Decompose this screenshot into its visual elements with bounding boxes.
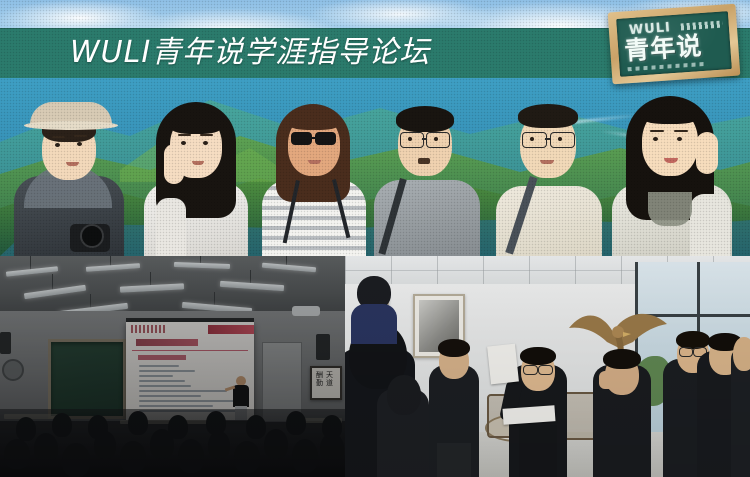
person4-hair xyxy=(396,106,454,132)
person5-glasses-bridge xyxy=(545,138,550,140)
poster-title: WULI青年说学涯指导论坛 xyxy=(70,31,430,75)
badge-chalkboard: WULI 青年说 xyxy=(616,11,732,77)
person4-glasses-r xyxy=(426,132,450,148)
person5-hair xyxy=(518,104,578,128)
person-longhair-hand xyxy=(608,88,736,256)
person3-sunglass-bridge xyxy=(312,137,315,139)
person1-eye-l xyxy=(55,143,60,147)
person6-brow-r xyxy=(674,130,688,132)
person2-eye-r xyxy=(203,141,208,145)
person5-eye-r xyxy=(558,137,562,141)
person5-mouth xyxy=(540,160,554,164)
person-glasses-crossbody xyxy=(492,88,604,256)
wuli-badge[interactable]: WULI 青年说 xyxy=(608,4,741,85)
hero-section: WULI青年说学涯指导论坛 WULI 青年说 xyxy=(0,0,750,256)
person2-fringe xyxy=(168,110,224,134)
person5-eye-l xyxy=(530,137,534,141)
person2-arm xyxy=(156,198,186,256)
person1-mouth xyxy=(66,162,79,166)
badge-chalk-dashes xyxy=(681,21,723,31)
person1-brow-l xyxy=(52,136,65,138)
person3-fringe xyxy=(286,110,342,130)
poster-root: WULI青年说学涯指导论坛 WULI 青年说 xyxy=(0,0,750,477)
person3-sunglass-l xyxy=(291,132,312,145)
person6-fringe xyxy=(640,104,700,124)
person6-arm xyxy=(690,194,730,256)
person-glasses-bag xyxy=(370,88,482,256)
badge-chinese-text: 青年说 xyxy=(623,30,727,64)
camera-lens xyxy=(80,224,104,248)
person1-eye-r xyxy=(77,142,82,146)
discussion-photo-shading xyxy=(345,256,750,477)
person-longhair-cheek xyxy=(140,88,250,256)
person3-mouth xyxy=(308,160,321,164)
person6-brow-l xyxy=(650,130,664,132)
person6-eye-l xyxy=(653,137,658,141)
person6-collar xyxy=(648,192,692,226)
person4-eye-l xyxy=(408,137,412,141)
person2-eye-l xyxy=(181,141,186,145)
person4-glasses-l xyxy=(400,132,424,148)
person2-brow-r xyxy=(200,134,213,136)
lecture-photo-shading xyxy=(0,256,345,477)
person2-hand xyxy=(164,144,184,184)
person4-glasses-bridge xyxy=(422,138,426,140)
person5-glasses-l xyxy=(522,132,547,148)
person2-brow-l xyxy=(178,134,191,136)
person-hat-camera xyxy=(8,88,126,256)
person4-beard xyxy=(418,158,430,164)
photo-lecture-hall: 天道 酬勤 xyxy=(0,256,345,477)
photo-discussion-room xyxy=(345,256,750,477)
person3-sunglass-r xyxy=(315,132,336,145)
person1-hat-brim xyxy=(24,121,118,130)
person6-hand xyxy=(696,132,718,174)
person5-glasses-r xyxy=(550,132,575,148)
person1-brow-r xyxy=(74,135,87,137)
person4-eye-r xyxy=(434,137,438,141)
people-row xyxy=(0,88,750,256)
person-sunglasses-stripes xyxy=(258,88,368,256)
photo-grid: 天道 酬勤 xyxy=(0,256,750,477)
person6-eye-r xyxy=(677,137,682,141)
